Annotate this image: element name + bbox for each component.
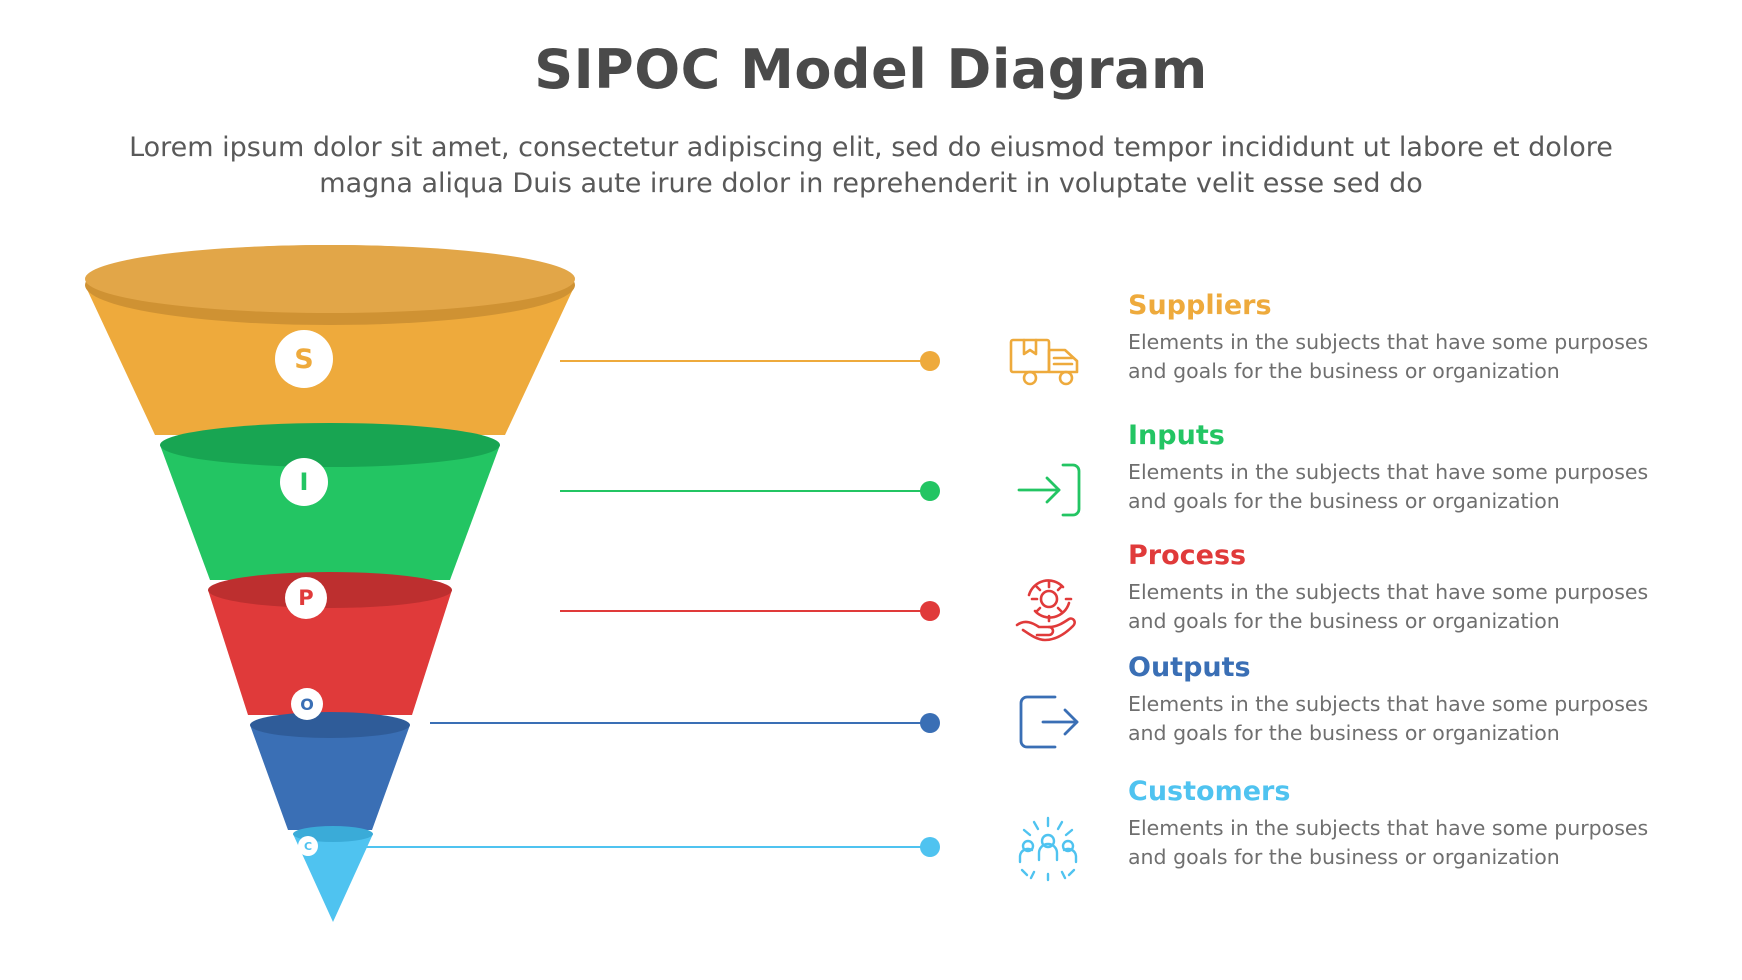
sipoc-diagram-page: SIPOC Model Diagram Lorem ipsum dolor si… bbox=[0, 0, 1742, 980]
legend-desc-customers: Elements in the subjects that have some … bbox=[1128, 814, 1673, 872]
legend-row-customers: Customers Elements in the subjects that … bbox=[0, 768, 1742, 898]
legend-desc-outputs: Elements in the subjects that have some … bbox=[1128, 690, 1673, 748]
connector-dot-inputs bbox=[920, 481, 940, 501]
arrow-into-box-icon bbox=[1005, 447, 1091, 533]
page-subtitle: Lorem ipsum dolor sit amet, consectetur … bbox=[80, 130, 1662, 201]
connector-line-customers bbox=[352, 846, 930, 848]
people-group-icon bbox=[1005, 803, 1091, 889]
legend-desc-suppliers: Elements in the subjects that have some … bbox=[1128, 328, 1673, 386]
legend-title-process: Process bbox=[1128, 540, 1246, 571]
legend-row-process: Process Elements in the subjects that ha… bbox=[0, 532, 1742, 662]
page-title: SIPOC Model Diagram bbox=[0, 38, 1742, 101]
legend-title-customers: Customers bbox=[1128, 776, 1290, 807]
connector-line-suppliers bbox=[560, 360, 930, 362]
connector-line-inputs bbox=[560, 490, 930, 492]
delivery-truck-icon bbox=[1005, 318, 1091, 404]
connector-dot-customers bbox=[920, 837, 940, 857]
legend-row-outputs: Outputs Elements in the subjects that ha… bbox=[0, 644, 1742, 774]
connector-dot-suppliers bbox=[920, 351, 940, 371]
arrow-out-of-box-icon bbox=[1005, 679, 1091, 765]
connector-line-process bbox=[560, 610, 930, 612]
legend-title-suppliers: Suppliers bbox=[1128, 290, 1272, 321]
legend-desc-process: Elements in the subjects that have some … bbox=[1128, 578, 1673, 636]
legend-title-outputs: Outputs bbox=[1128, 652, 1251, 683]
gear-in-hand-icon bbox=[1005, 567, 1091, 653]
legend-row-suppliers: Suppliers Elements in the subjects that … bbox=[0, 300, 1742, 430]
connector-dot-process bbox=[920, 601, 940, 621]
legend-desc-inputs: Elements in the subjects that have some … bbox=[1128, 458, 1673, 516]
legend-title-inputs: Inputs bbox=[1128, 420, 1225, 451]
connector-line-outputs bbox=[430, 722, 930, 724]
connector-dot-outputs bbox=[920, 713, 940, 733]
